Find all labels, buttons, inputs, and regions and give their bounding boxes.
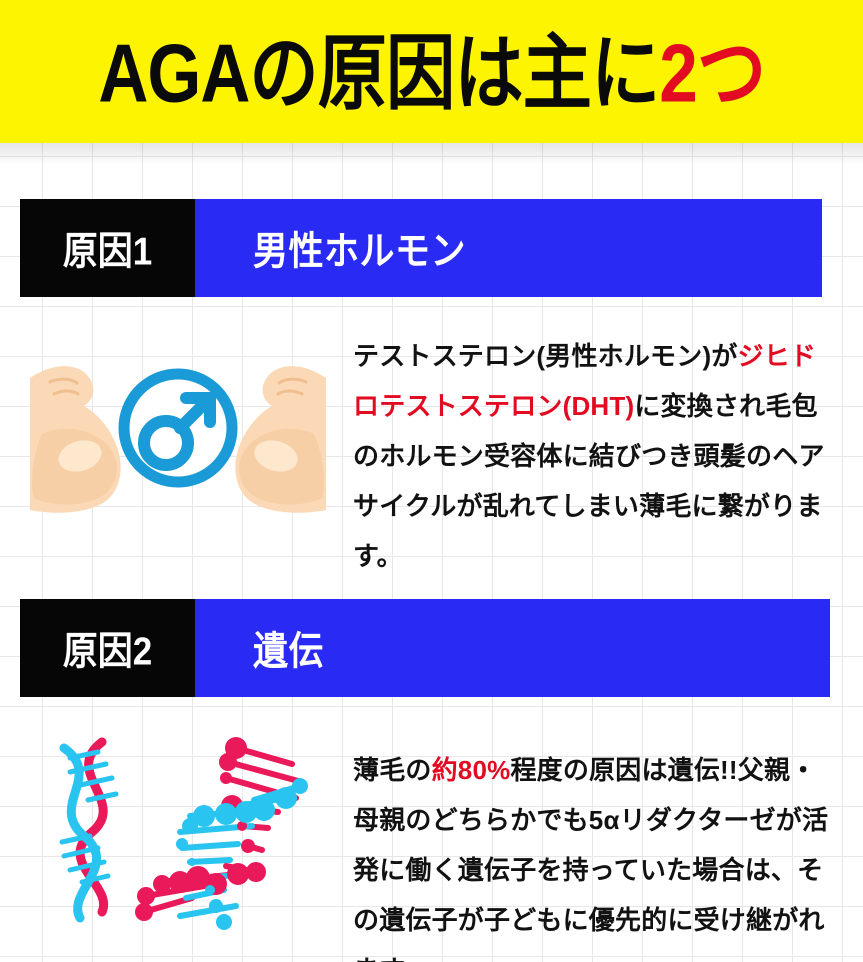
cause-2-body-run-2-highlight: 約80% xyxy=(432,755,511,785)
cause-1-title-label: 男性ホルモン xyxy=(253,219,466,276)
cause-section-2: 原因2 遺伝 xyxy=(0,599,863,697)
cause-2-body-text: 薄毛の約80%程度の原因は遺伝!!父親・母親のどちらかでも5αリダクターゼが活発… xyxy=(353,745,831,962)
left-flexing-arm xyxy=(30,366,121,513)
page-title-main: AGAの原因は主に xyxy=(98,26,659,118)
cause-1-title-bar: 男性ホルモン xyxy=(195,199,822,297)
male-symbol-flexing-arms-icon xyxy=(28,338,328,528)
cause-2-header: 原因2 遺伝 xyxy=(20,599,863,697)
right-flexing-arm xyxy=(235,366,326,513)
page-title: AGAの原因は主に2つ xyxy=(98,31,765,114)
header-banner: AGAの原因は主に2つ xyxy=(0,0,863,143)
cause-2-title-bar: 遺伝 xyxy=(195,599,830,697)
cause-1-header: 原因1 男性ホルモン xyxy=(20,199,863,297)
dna-beaded-helix xyxy=(135,737,308,930)
cause-1-badge: 原因1 xyxy=(20,199,195,297)
header-drop-shadow xyxy=(0,143,863,165)
cause-2-badge: 原因2 xyxy=(20,599,195,697)
cause-2-body-run-1: 薄毛の xyxy=(353,755,432,785)
cause-section-1: 原因1 男性ホルモン xyxy=(0,199,863,297)
cause-2-title-label: 遺伝 xyxy=(253,619,324,676)
cause-2-badge-label: 原因2 xyxy=(63,619,152,676)
dna-ribbon-helix xyxy=(62,742,116,918)
cause-1-body-run-1: テストステロン(男性ホルモン)が xyxy=(353,341,738,371)
dna-double-helix-icon xyxy=(40,726,330,936)
cause-2-body-run-3: 程度の原因は遺伝!!父親・母親のどちらかでも5αリダクターゼが活発に働く遺伝子を… xyxy=(353,755,828,962)
cause-1-badge-label: 原因1 xyxy=(63,219,152,276)
infographic-page: AGAの原因は主に2つ 原因1 男性ホルモン xyxy=(0,0,863,962)
mars-symbol-icon xyxy=(120,370,236,486)
page-title-accent: 2つ xyxy=(659,26,765,118)
cause-1-body-text: テストステロン(男性ホルモン)がジヒドロテストステロン(DHT)に変換され毛包の… xyxy=(353,331,831,581)
